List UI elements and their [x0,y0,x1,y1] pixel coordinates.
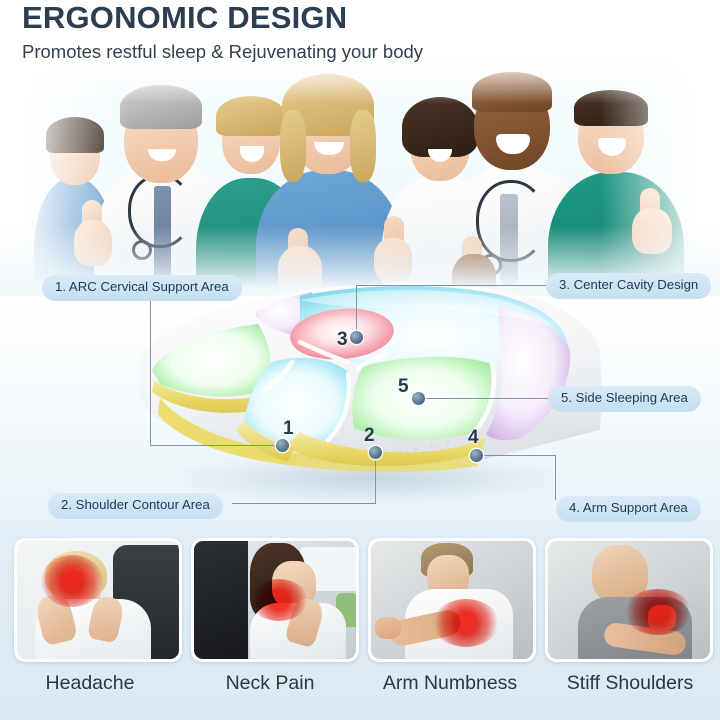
symptom-photo-neck-pain [194,541,356,659]
pillow-marker-label-5: 5 [398,376,409,398]
symptom-photo-arm-numbness [371,541,533,659]
pillow-marker-label-1: 1 [283,418,294,440]
symptom-caption-stiff-shoulders: Stiff Shoulders [540,672,720,695]
symptom-caption-arm-numbness: Arm Numbness [360,672,540,695]
symptom-photo-headache [17,541,179,659]
symptom-caption-headache: Headache [0,672,180,695]
pillow-marker-label-3: 3 [337,329,348,351]
symptom-card-neck-pain[interactable] [191,538,359,662]
callout-label-1[interactable]: 1. ARC Cervical Support Area [42,275,242,301]
pillow-marker-3[interactable] [350,331,363,344]
callout-label-2[interactable]: 2. Shoulder Contour Area [48,493,223,519]
pillow-marker-5[interactable] [412,392,425,405]
leader-line-5-horizontal [424,398,548,399]
symptom-caption-neck-pain: Neck Pain [180,672,360,695]
leader-line-4-vertical [555,455,556,500]
callout-label-4[interactable]: 4. Arm Support Area [556,496,701,522]
infographic-page: ERGONOMIC DESIGN Promotes restful sleep … [0,0,720,720]
symptom-card-arm-numbness[interactable] [368,538,536,662]
leader-line-1-horizontal [150,445,282,446]
symptom-card-stiff-shoulders[interactable] [545,538,713,662]
pillow-marker-2[interactable] [369,446,382,459]
symptom-captions: Headache Neck Pain Arm Numbness Stiff Sh… [0,672,720,695]
page-title: ERGONOMIC DESIGN [22,2,423,35]
callout-label-3[interactable]: 3. Center Cavity Design [546,273,711,299]
leader-line-2-vertical [375,452,376,504]
page-subtitle: Promotes restful sleep & Rejuvenating yo… [22,41,423,63]
leader-line-2-horizontal [232,503,376,504]
pillow-marker-4[interactable] [470,449,483,462]
symptom-card-headache[interactable] [14,538,182,662]
leader-line-4-horizontal [482,455,556,456]
pillow-marker-1[interactable] [276,439,289,452]
pillow-marker-label-4: 4 [468,427,479,449]
pain-indicator [624,589,692,635]
callout-label-5[interactable]: 5. Side Sleeping Area [548,386,701,412]
pain-indicator [250,579,308,621]
symptom-strip: Headache Neck Pain Arm Numbness Stiff Sh… [0,520,720,720]
symptom-photo-stiff-shoulders [548,541,710,659]
pain-indicator [433,599,499,647]
pain-indicator [41,555,103,607]
leader-line-1-vertical [150,297,151,446]
header: ERGONOMIC DESIGN Promotes restful sleep … [22,2,423,63]
leader-line-3-horizontal [356,285,547,286]
pillow-marker-label-2: 2 [364,425,375,447]
leader-line-3-vertical [356,286,357,337]
